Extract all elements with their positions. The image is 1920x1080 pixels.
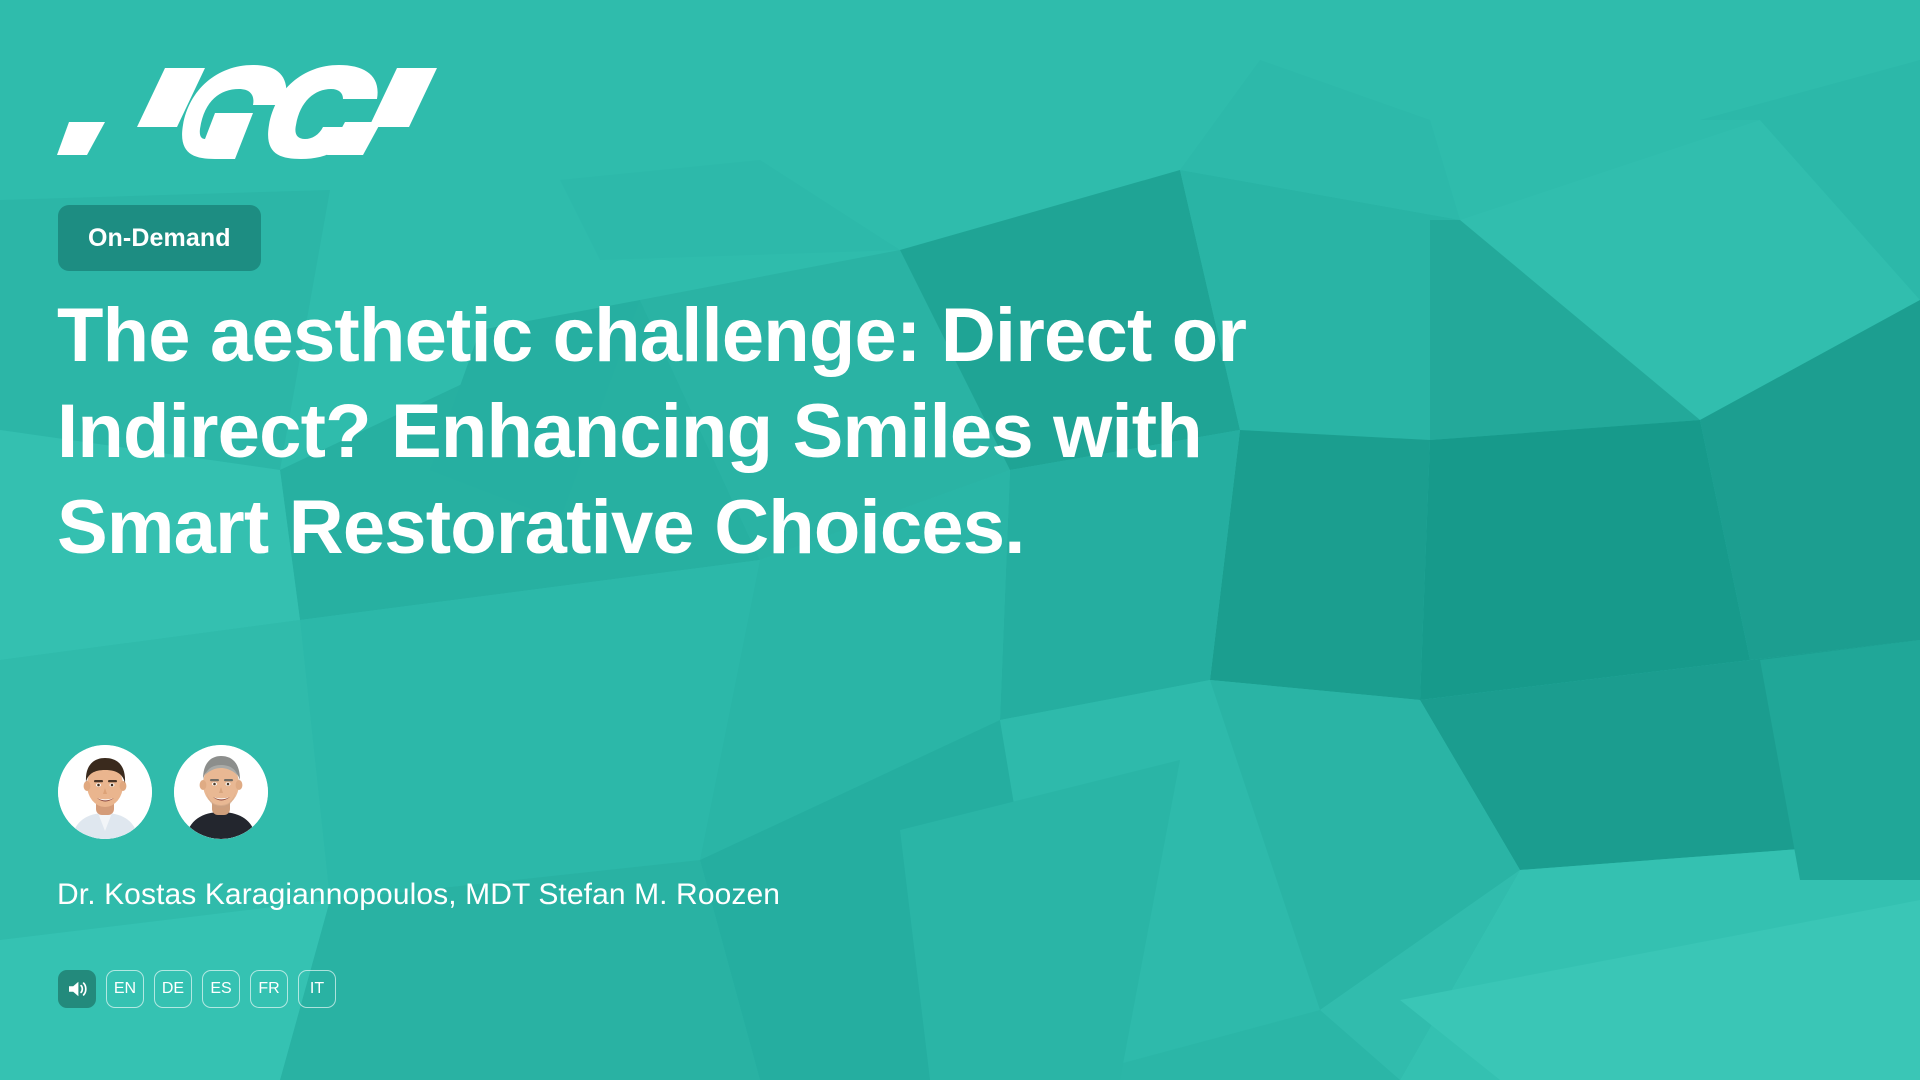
language-selector: EN DE ES FR IT: [58, 970, 336, 1008]
language-button-en[interactable]: EN: [106, 970, 144, 1008]
avatar-speaker-2: [174, 745, 268, 839]
avatar-speaker-1: [58, 745, 152, 839]
status-badge: On-Demand: [58, 205, 261, 271]
speaker-names: Dr. Kostas Karagiannopoulos, MDT Stefan …: [57, 878, 780, 912]
gc-logo[interactable]: [57, 55, 437, 160]
speaker-avatar-group: [58, 745, 268, 839]
speaker-icon[interactable]: [58, 970, 96, 1008]
page-title: The aesthetic challenge: Direct or Indir…: [57, 288, 1477, 576]
title-line-1: The aesthetic challenge: Direct or: [57, 288, 1477, 384]
badge-label: On-Demand: [88, 224, 231, 253]
title-line-3: Smart Restorative Choices.: [57, 480, 1477, 576]
language-button-fr[interactable]: FR: [250, 970, 288, 1008]
language-button-de[interactable]: DE: [154, 970, 192, 1008]
language-button-es[interactable]: ES: [202, 970, 240, 1008]
title-line-2: Indirect? Enhancing Smiles with: [57, 384, 1477, 480]
webinar-hero-card: On-Demand The aesthetic challenge: Direc…: [0, 0, 1920, 1080]
language-button-it[interactable]: IT: [298, 970, 336, 1008]
